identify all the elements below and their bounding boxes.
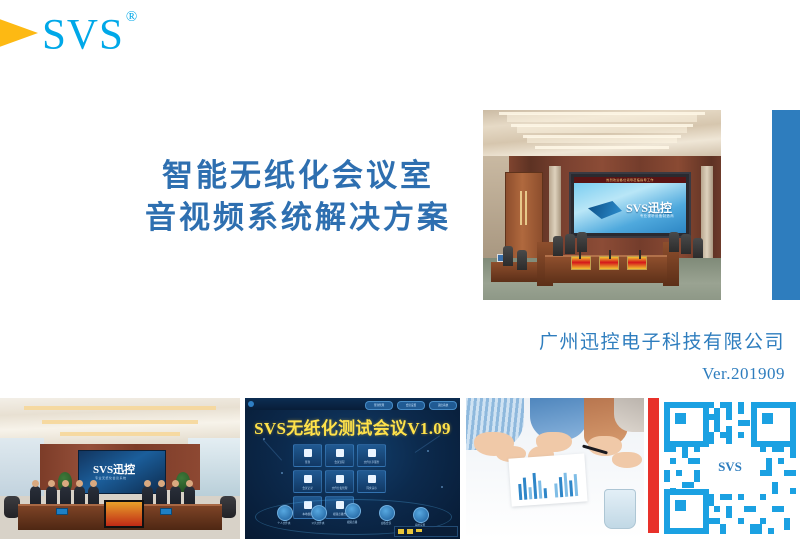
chart-bar [518, 484, 522, 500]
brand-logo: SVS® [0, 10, 136, 56]
grid-item-label: 文件分发管理 [326, 486, 353, 490]
screen-banner-text: 热烈欢迎各位领导莅临指导工作 [574, 177, 686, 183]
slide-page: SVS® 热烈欢迎各位领导莅临指导工作 SVS迅控 专业视听设备制造商 [0, 0, 800, 541]
page-title-line1: 智能无纸化会议室 [118, 158, 478, 194]
bottom-image-strip: SVS迅控 专业无纸化会议系统 [0, 395, 800, 541]
desk-flag [627, 256, 647, 270]
qr-finder-top-right [751, 402, 796, 447]
decorative-dot [427, 450, 429, 452]
dock-item[interactable] [277, 505, 293, 521]
play-triangle-icon [0, 14, 38, 52]
screen-subtitle-text: 专业无纸化会议系统 [95, 476, 127, 480]
team-discussion-photo [466, 398, 644, 539]
grid-item[interactable]: 文件共享服务 [357, 444, 386, 467]
meeting-room-photo: SVS迅控 专业无纸化会议系统 [0, 398, 240, 539]
chart-bar [564, 473, 569, 497]
status-chip [416, 529, 422, 532]
company-name: 广州迅控电子科技有限公司 [430, 330, 785, 354]
status-chip [398, 531, 404, 534]
topbar-button-1[interactable]: 签到管理 [365, 401, 393, 410]
dock-item-label: 视频点播 [337, 520, 367, 524]
screen-welcome-banner: 热烈欢迎各位领导莅临指导工作 [574, 177, 686, 183]
chart-document [508, 453, 587, 506]
attendee-head [186, 480, 193, 487]
chair [693, 238, 703, 258]
refresh-icon [368, 475, 376, 483]
monitor-icon [368, 449, 376, 457]
screen-subtitle-text: 专业视听设备制造商 [640, 213, 674, 218]
ceiling-light-strip [535, 146, 669, 149]
topbar-button-2[interactable]: 会议设置 [397, 401, 425, 410]
tablet-terminal [56, 508, 68, 515]
chart-bar [559, 477, 563, 497]
attendee-head [76, 480, 83, 487]
tablet-terminal [160, 508, 172, 515]
screen-content: 热烈欢迎各位领导莅临指导工作 SVS迅控 专业视听设备制造商 [574, 177, 686, 233]
chair [577, 232, 587, 252]
attendee-head [158, 480, 165, 487]
chart-bar [569, 480, 573, 496]
chair [220, 496, 236, 518]
ceiling-light-strip [499, 112, 705, 115]
grid-item-label: 会议记录 [294, 486, 321, 490]
brand-logo-label: SVS [42, 11, 124, 58]
qr-center-label: SVS [718, 459, 742, 475]
water-glass [604, 489, 636, 529]
right-accent-bar [772, 110, 800, 300]
page-title-line2: 音视频系统解决方案 [118, 200, 478, 236]
qr-center-logo: SVS [704, 456, 756, 478]
ceiling-light-strip [523, 135, 681, 138]
dock-item[interactable] [379, 505, 395, 521]
door-handle [520, 191, 522, 225]
desk-flag [571, 256, 591, 270]
page-title: 智能无纸化会议室 音视频系统解决方案 [118, 158, 478, 236]
topbar-button-1-label: 签到管理 [366, 402, 392, 409]
chart-bar [544, 488, 548, 498]
chair [517, 250, 527, 270]
chair [669, 232, 679, 252]
grid-item[interactable]: 文件分发管理 [325, 470, 354, 493]
grid-item-label: 文件共享服务 [358, 460, 385, 464]
folder-icon [336, 475, 344, 483]
decorative-graphic [588, 201, 622, 219]
dock-item-label: 个人文件夹 [269, 521, 299, 525]
chair [503, 246, 513, 266]
laptop-display [104, 500, 144, 528]
company-block: 广州迅控电子科技有限公司 Ver.201909 [430, 330, 785, 385]
dock-item-label: 白板会议 [371, 521, 401, 525]
decorative-dot [441, 486, 443, 488]
registered-trademark-icon: ® [126, 9, 138, 25]
attendee-head [90, 480, 97, 487]
paperless-software-screenshot: 签到管理 会议设置 退出系统 SVS无纸化测试会议V1.09 签到 会议议程 文… [245, 398, 460, 539]
app-title: SVS无纸化测试会议V1.09 [245, 414, 460, 439]
document-icon [336, 449, 344, 457]
grid-item[interactable]: 会议议程 [325, 444, 354, 467]
dock-item[interactable] [311, 505, 327, 521]
topbar-button-2-label: 会议设置 [398, 402, 424, 409]
dock-item[interactable] [413, 507, 429, 523]
door-handle [525, 191, 527, 225]
attendee-head [32, 480, 39, 487]
dock-item[interactable] [345, 503, 361, 519]
grid-item[interactable]: 签到 [293, 444, 322, 467]
chair [565, 234, 575, 254]
microphone [639, 250, 641, 259]
grid-item-label: 会议议程 [326, 460, 353, 464]
chart-bar [523, 478, 528, 500]
topbar-button-3[interactable]: 退出系统 [429, 401, 457, 410]
app-menu-icon[interactable] [248, 401, 254, 407]
qr-code: SVS [664, 402, 796, 534]
grid-item-label: 签到 [294, 460, 321, 464]
ceiling-light-strip [511, 124, 693, 127]
qr-code-panel: SVS [648, 398, 800, 539]
grid-item[interactable]: 会议记录 [293, 470, 322, 493]
chair [681, 234, 691, 254]
ceiling-panel [507, 114, 697, 122]
note-icon [304, 475, 312, 483]
led-display-screen: 热烈欢迎各位领导莅临指导工作 SVS迅控 专业视听设备制造商 [569, 172, 691, 238]
brand-logo-text: SVS® [42, 8, 136, 56]
hero-conference-room-image: 热烈欢迎各位领导莅临指导工作 SVS迅控 专业视听设备制造商 [483, 110, 721, 300]
screen-logo-text: SVS迅控 [93, 461, 135, 477]
version-label: Ver.201909 [430, 363, 785, 385]
attendee-head [172, 480, 179, 487]
attendee-head [144, 480, 151, 487]
person-shirt [614, 398, 644, 432]
cove-light [42, 420, 198, 424]
grid-item[interactable]: 同步演示 [357, 470, 386, 493]
chair [553, 236, 563, 256]
chart-bar [532, 473, 537, 499]
chart-bar [528, 487, 532, 499]
red-accent-bar [648, 398, 659, 533]
decorative-line [263, 439, 282, 460]
app-topbar: 签到管理 会议设置 退出系统 [245, 398, 460, 410]
decorative-dot [281, 472, 283, 474]
microphone [609, 250, 611, 259]
qr-matrix: SVS [664, 402, 796, 534]
cove-light [60, 432, 180, 436]
chart-bar [538, 480, 542, 498]
grid-item-label: 同步演示 [358, 486, 385, 490]
hand [612, 452, 642, 468]
chart-bar [574, 474, 579, 496]
attendee-head [62, 480, 69, 487]
cove-light [24, 406, 216, 410]
chart-bar [554, 483, 558, 497]
dock-item-label: 公共文件夹 [303, 521, 333, 525]
ceiling-panel [517, 126, 687, 133]
attendee-head [48, 480, 55, 487]
clipboard-icon [304, 449, 312, 457]
status-chip [407, 531, 413, 534]
microphone [579, 250, 581, 259]
status-bar [394, 526, 458, 537]
topbar-button-3-label: 退出系统 [430, 402, 456, 409]
